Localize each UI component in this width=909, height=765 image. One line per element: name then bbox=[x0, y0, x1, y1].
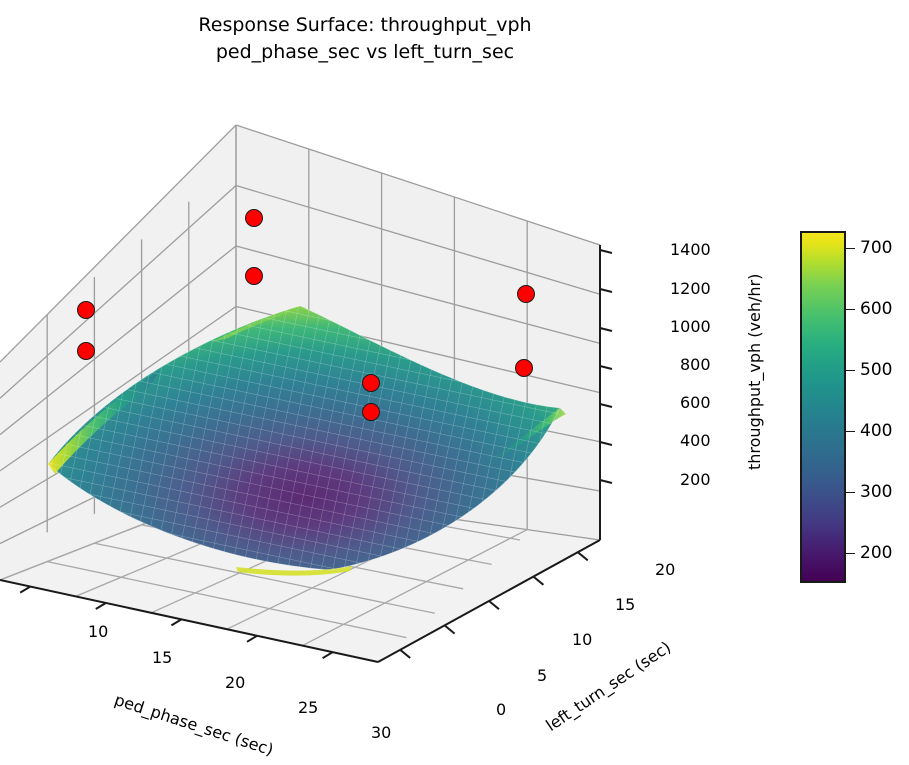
y-tick-label: 5 bbox=[537, 666, 547, 685]
colorbar-tick bbox=[846, 248, 855, 249]
scatter-point bbox=[363, 375, 380, 392]
z-tick-label: 1200 bbox=[670, 279, 711, 298]
y-tick-label: 15 bbox=[615, 595, 635, 614]
x-tick-label: 15 bbox=[152, 648, 172, 667]
colorbar-tick bbox=[846, 553, 855, 554]
scatter-point bbox=[518, 286, 535, 303]
scatter-point bbox=[246, 210, 263, 227]
x-tick-label: 30 bbox=[371, 723, 391, 742]
colorbar-tick-label: 300 bbox=[860, 482, 892, 502]
colorbar-tick-label: 200 bbox=[860, 543, 892, 563]
scatter-point bbox=[363, 404, 380, 421]
z-axis-ticks bbox=[600, 250, 612, 483]
colorbar-tick bbox=[846, 431, 855, 432]
colorbar-tick bbox=[846, 309, 855, 310]
colorbar-gradient[interactable] bbox=[800, 231, 846, 583]
x-tick-label: 20 bbox=[225, 673, 245, 692]
z-axis-label: throughput_vph (veh/hr) bbox=[745, 274, 764, 470]
colorbar-tick-label: 600 bbox=[860, 299, 892, 319]
scatter-point bbox=[78, 343, 95, 360]
x-tick-label: 25 bbox=[298, 698, 318, 717]
colorbar-tick bbox=[846, 492, 855, 493]
z-tick-label: 1400 bbox=[670, 240, 711, 259]
scatter-point bbox=[246, 268, 263, 285]
scatter-point bbox=[78, 302, 95, 319]
z-tick-label: 1000 bbox=[670, 317, 711, 336]
colorbar-tick bbox=[846, 370, 855, 371]
z-tick-label: 600 bbox=[680, 393, 711, 412]
scatter-point bbox=[516, 360, 533, 377]
colorbar-tick-label: 500 bbox=[860, 360, 892, 380]
colorbar-tick-label: 400 bbox=[860, 421, 892, 441]
colorbar-tick-label: 700 bbox=[860, 238, 892, 258]
x-tick-label: 10 bbox=[88, 622, 108, 641]
z-tick-label: 800 bbox=[680, 355, 711, 374]
y-tick-label: 0 bbox=[496, 700, 506, 719]
page-title: Response Surface: throughput_vph ped_pha… bbox=[0, 12, 730, 66]
figure-canvas: Response Surface: throughput_vph ped_pha… bbox=[0, 0, 909, 765]
y-tick-label: 20 bbox=[655, 560, 675, 579]
z-tick-label: 400 bbox=[680, 431, 711, 450]
y-tick-label: 10 bbox=[572, 630, 592, 649]
z-tick-label: 200 bbox=[680, 470, 711, 489]
colorbar[interactable]: 700 600 500 400 300 200 bbox=[800, 231, 848, 585]
